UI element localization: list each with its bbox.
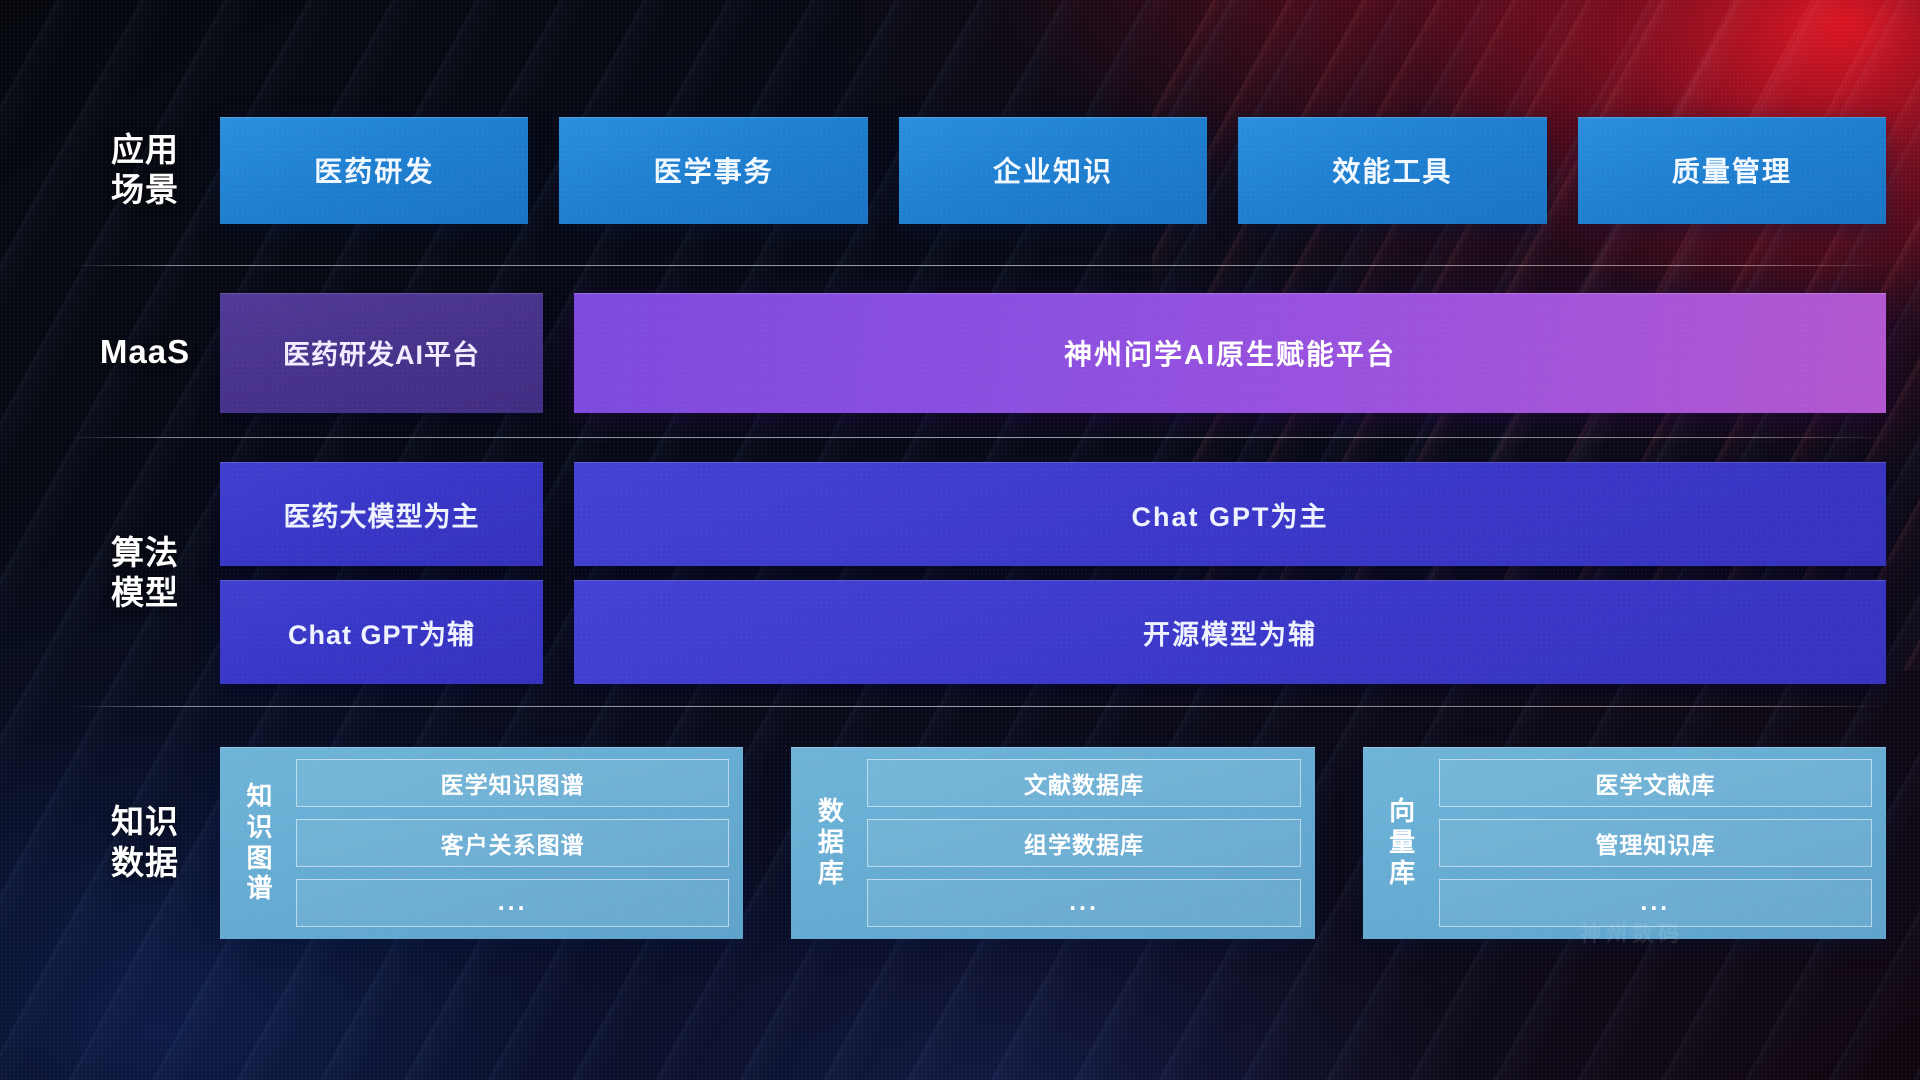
row-knowledge-data: 知识 数据 知 识 图 谱 医学知识图谱 客户关系图谱 ... <box>70 720 1886 965</box>
row-label-maas: MaaS <box>70 332 220 372</box>
knowledge-group-knowledge-graph[interactable]: 知 识 图 谱 医学知识图谱 客户关系图谱 ... <box>220 747 743 939</box>
diagram-canvas: 应用 场景 医药研发 医学事务 企业知识 效能工具 质量管理 <box>0 0 1920 1080</box>
application-card-medical-affairs[interactable]: 医学事务 <box>559 117 867 224</box>
application-card-enterprise-knowledge[interactable]: 企业知识 <box>899 117 1207 224</box>
knowledge-item-label: ... <box>498 888 528 917</box>
knowledge-group-list: 知 识 图 谱 医学知识图谱 客户关系图谱 ... 数 据 <box>220 747 1886 939</box>
knowledge-group-title: 知 识 图 谱 <box>224 759 296 927</box>
row-maas: MaaS 医药研发AI平台 神州问学AI原生赋能平台 <box>70 290 1886 415</box>
knowledge-item-list: 文献数据库 组学数据库 ... <box>867 759 1300 927</box>
knowledge-item-label: 管理知识库 <box>1595 826 1715 860</box>
row-label-application: 应用 场景 <box>70 130 220 211</box>
knowledge-item-label: 医学知识图谱 <box>441 766 585 800</box>
application-card-label: 医药研发 <box>314 150 434 190</box>
maas-card-label: 医药研发AI平台 <box>283 333 480 372</box>
maas-card-list: 医药研发AI平台 神州问学AI原生赋能平台 <box>220 293 1886 413</box>
knowledge-item-label: 客户关系图谱 <box>441 826 585 860</box>
knowledge-item-literature-database[interactable]: 文献数据库 <box>867 759 1300 807</box>
knowledge-group-database[interactable]: 数 据 库 文献数据库 组学数据库 ... <box>791 747 1314 939</box>
application-card-pharma-rd[interactable]: 医药研发 <box>220 117 528 224</box>
knowledge-item-more[interactable]: ... <box>1439 879 1872 927</box>
knowledge-item-list: 医学文献库 管理知识库 ... <box>1439 759 1872 927</box>
row-algorithm-models: 算法 模型 医药大模型为主 Chat GPT为主 Chat GPT为辅 开源模型… <box>70 462 1886 684</box>
knowledge-item-label: ... <box>1069 888 1099 917</box>
knowledge-item-more[interactable]: ... <box>867 879 1300 927</box>
algorithm-card-label: Chat GPT为辅 <box>288 613 475 652</box>
knowledge-item-medical-knowledge-graph[interactable]: 医学知识图谱 <box>296 759 729 807</box>
knowledge-item-more[interactable]: ... <box>296 879 729 927</box>
knowledge-item-label: ... <box>1640 888 1670 917</box>
application-card-label: 医学事务 <box>654 150 774 190</box>
application-card-label: 效能工具 <box>1332 150 1452 190</box>
algorithm-card-label: 开源模型为辅 <box>1143 613 1317 652</box>
divider-algorithm-knowledge <box>70 706 1886 707</box>
divider-maas-algorithm <box>70 437 1886 438</box>
application-card-label: 企业知识 <box>993 150 1113 190</box>
knowledge-item-label: 医学文献库 <box>1595 766 1715 800</box>
maas-card-label: 神州问学AI原生赋能平台 <box>1064 333 1396 373</box>
application-card-quality-management[interactable]: 质量管理 <box>1578 117 1886 224</box>
algorithm-card-pharma-llm-primary[interactable]: 医药大模型为主 <box>220 462 543 566</box>
knowledge-group-vector-store[interactable]: 向 量 库 医学文献库 管理知识库 ... <box>1363 747 1886 939</box>
divider-application-maas <box>70 265 1886 266</box>
algorithm-line-secondary: Chat GPT为辅 开源模型为辅 <box>220 580 1886 684</box>
row-application-scenarios: 应用 场景 医药研发 医学事务 企业知识 效能工具 质量管理 <box>70 110 1886 230</box>
knowledge-item-medical-literature-store[interactable]: 医学文献库 <box>1439 759 1872 807</box>
row-label-knowledge: 知识 数据 <box>70 802 220 883</box>
diagram-content: 应用 场景 医药研发 医学事务 企业知识 效能工具 质量管理 <box>0 0 1920 1080</box>
algorithm-card-opensource-secondary[interactable]: 开源模型为辅 <box>574 580 1886 684</box>
application-card-efficiency-tools[interactable]: 效能工具 <box>1238 117 1546 224</box>
row-label-algorithm: 算法 模型 <box>70 533 220 614</box>
knowledge-group-title: 向 量 库 <box>1367 759 1439 927</box>
application-card-label: 质量管理 <box>1672 150 1792 190</box>
algorithm-card-chatgpt-secondary[interactable]: Chat GPT为辅 <box>220 580 543 684</box>
knowledge-item-management-knowledge-store[interactable]: 管理知识库 <box>1439 819 1872 867</box>
knowledge-item-label: 组学数据库 <box>1024 826 1144 860</box>
maas-card-pharma-ai-platform[interactable]: 医药研发AI平台 <box>220 293 543 413</box>
algorithm-card-label: Chat GPT为主 <box>1131 495 1328 534</box>
knowledge-item-omics-database[interactable]: 组学数据库 <box>867 819 1300 867</box>
algorithm-line-primary: 医药大模型为主 Chat GPT为主 <box>220 462 1886 566</box>
maas-card-shenzhou-wenxue-platform[interactable]: 神州问学AI原生赋能平台 <box>574 293 1886 413</box>
knowledge-item-list: 医学知识图谱 客户关系图谱 ... <box>296 759 729 927</box>
knowledge-group-title: 数 据 库 <box>795 759 867 927</box>
knowledge-item-label: 文献数据库 <box>1024 766 1144 800</box>
algorithm-card-label: 医药大模型为主 <box>284 495 480 534</box>
application-card-list: 医药研发 医学事务 企业知识 效能工具 质量管理 <box>220 117 1886 224</box>
algorithm-card-chatgpt-primary[interactable]: Chat GPT为主 <box>574 462 1886 566</box>
knowledge-item-customer-relation-graph[interactable]: 客户关系图谱 <box>296 819 729 867</box>
algorithm-card-list: 医药大模型为主 Chat GPT为主 Chat GPT为辅 开源模型为辅 <box>220 462 1886 684</box>
